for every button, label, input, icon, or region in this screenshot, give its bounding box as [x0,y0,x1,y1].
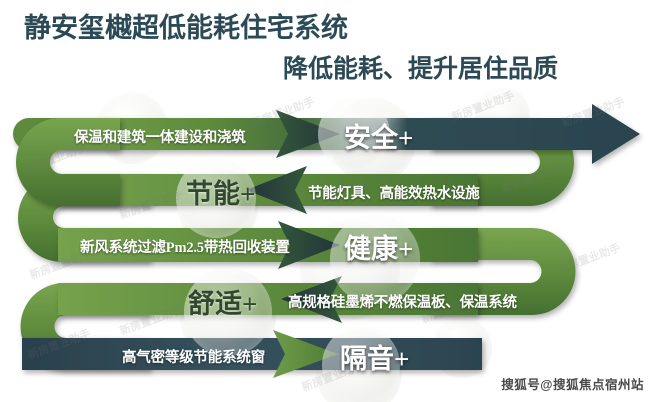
band-4-label: 高规格硅墨烯不燃保温板、保温系统 [288,291,517,312]
band-3-key: 健康+ [344,227,413,266]
band-1-label: 保温和建筑一体建设和浇筑 [74,126,246,147]
page-subtitle: 降低能耗、提升居住品质 [283,49,558,85]
diagram-canvas: 新房置业助手 新房置业助手 新房置业助手 新房置业助手 新房置业助手 新房置业助… [0,0,660,402]
band-1-key: 安全+ [344,116,413,155]
band-2-key: 节能+ [186,172,255,211]
band-2-label: 节能灯具、高能效热水设施 [308,182,480,203]
band-5-label: 高气密等级节能系统窗 [122,346,265,367]
band-4-key: 舒适+ [188,282,257,321]
band-5-key: 隔音+ [340,337,409,376]
page-title: 静安玺樾超低能耗住宅系统 [24,6,348,45]
source-watermark: 搜狐号@搜狐焦点宿州站 [501,374,644,393]
band-3-label: 新风系统过滤Pm2.5带热回收装置 [80,236,290,257]
